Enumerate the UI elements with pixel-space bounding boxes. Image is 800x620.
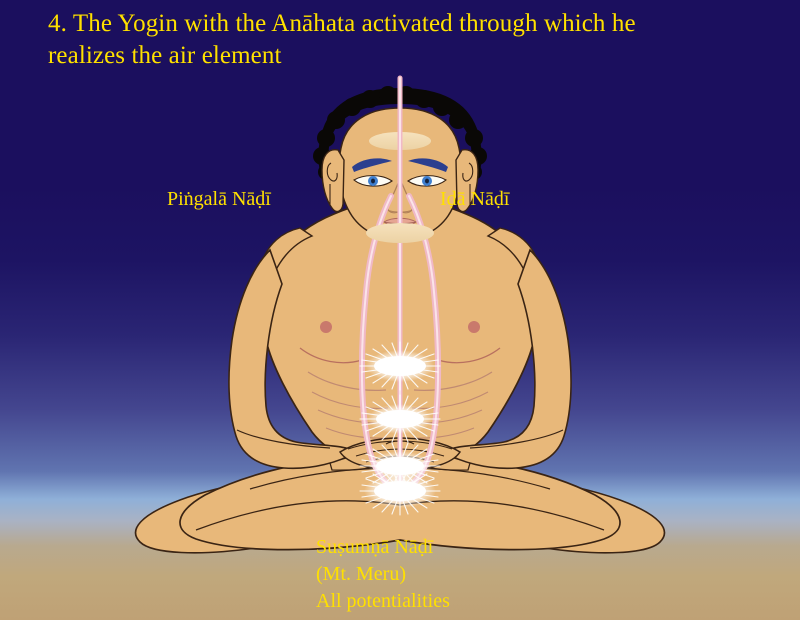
label-susumna-line-3: All potentialities — [316, 588, 450, 615]
nipple-left — [320, 321, 332, 333]
label-ida-nadi: Iḍā Nāḍī — [440, 186, 509, 213]
label-susumna-line-1: Suṣumṇā Nāḍī — [316, 534, 450, 561]
slide-title: 4. The Yogin with the Anāhata activated … — [48, 8, 698, 72]
chakra-group — [360, 342, 440, 515]
throat-light-oval — [366, 223, 434, 243]
slide-canvas: 4. The Yogin with the Anāhata activated … — [0, 0, 800, 620]
yogin-illustration — [0, 0, 800, 620]
label-pingala-nadi: Piṅgalā Nāḍī — [167, 186, 271, 213]
label-susumna-line-2: (Mt. Meru) — [316, 561, 450, 588]
label-susumna-nadi-block: Suṣumṇā Nāḍī (Mt. Meru) All potentialiti… — [316, 534, 450, 615]
nipple-right — [468, 321, 480, 333]
